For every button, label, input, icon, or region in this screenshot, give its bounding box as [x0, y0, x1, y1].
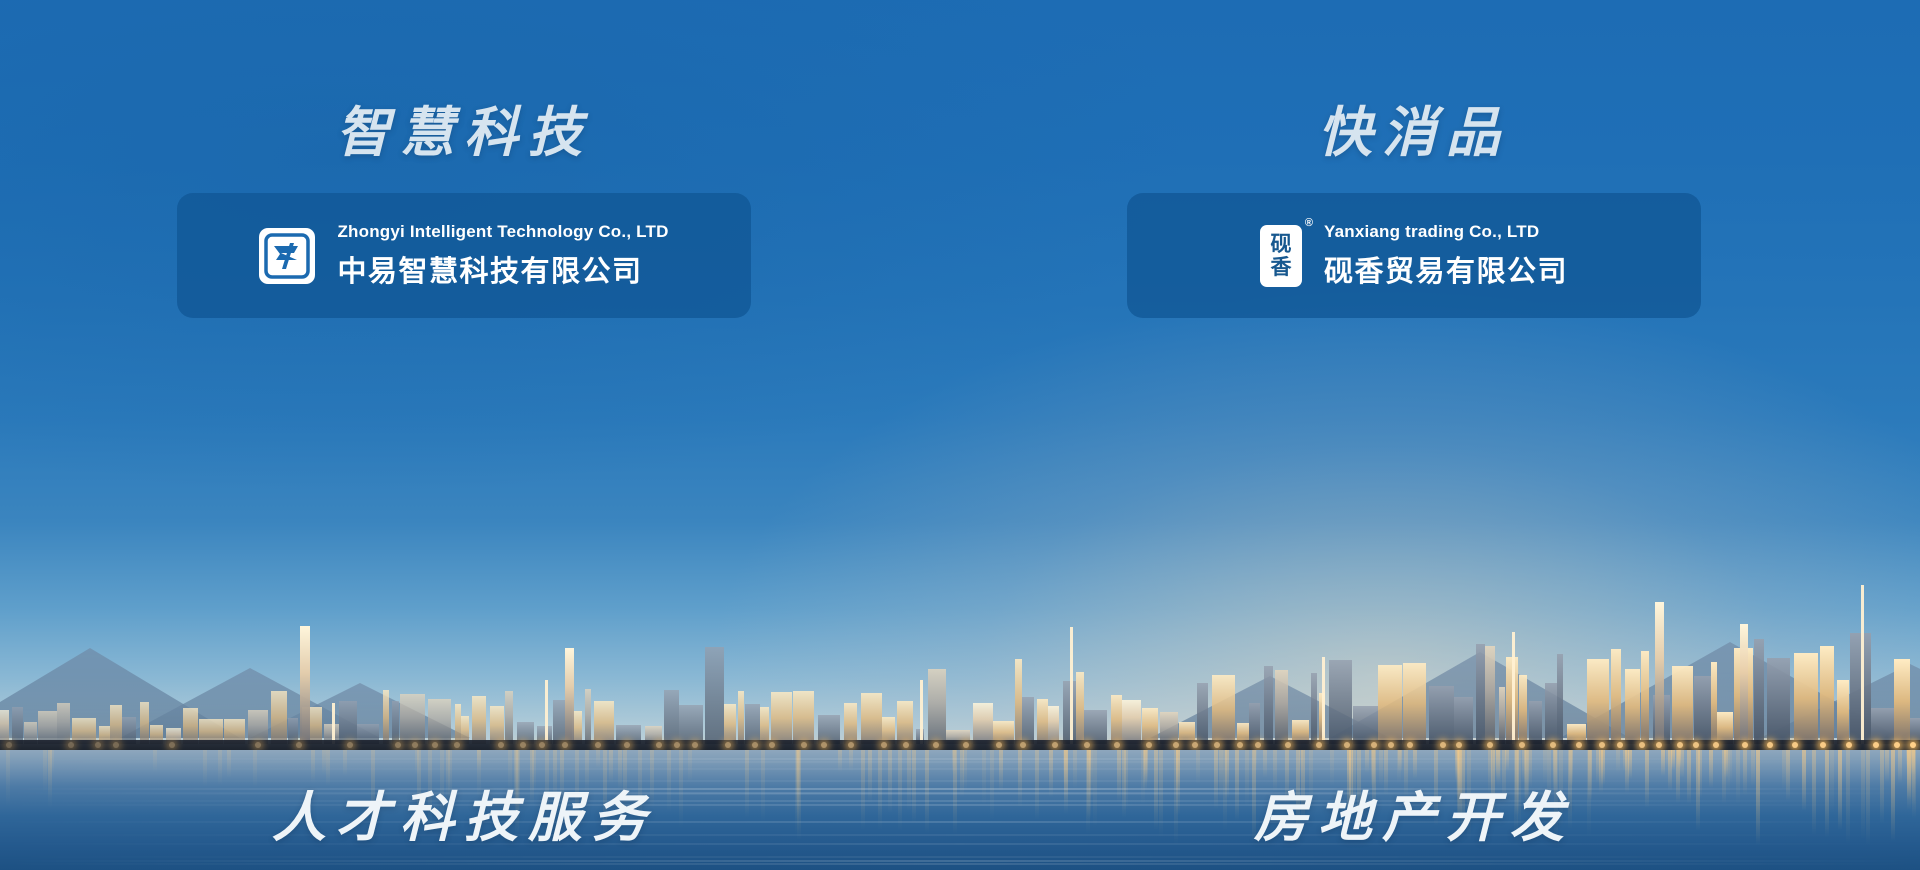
zhongyi-z-logo-icon [259, 228, 315, 284]
segments-grid: 智慧科技 Zhongyi Intelligent Technology Co. [0, 0, 1920, 870]
company-name-en: Zhongyi Intelligent Technology Co., LTD [337, 222, 668, 242]
logo-wrap [259, 228, 315, 284]
company-text: Zhongyi Intelligent Technology Co., LTD … [337, 222, 668, 290]
company-name-cn: 中易智慧科技有限公司 [337, 248, 668, 290]
segment-cell-real-estate: 房地产开发 Yanxiang real estate development C… [960, 467, 1920, 870]
segment-heading: 房地产开发 [1100, 789, 1728, 848]
segment-heading: 智慧科技 [150, 104, 778, 163]
logo-wrap: 砚 香 ® [1260, 225, 1302, 287]
segment-cell-talent-tech-services: 人才科技服务 NY [0, 467, 960, 870]
company-card-zhongyi[interactable]: Zhongyi Intelligent Technology Co., LTD … [177, 193, 751, 318]
company-name-cn: 砚香贸易有限公司 [1324, 248, 1568, 290]
registered-mark-icon: ® [1305, 217, 1313, 229]
company-text: Yanxiang trading Co., LTD 砚香贸易有限公司 [1324, 222, 1568, 290]
banner-scene: 智慧科技 Zhongyi Intelligent Technology Co. [0, 0, 1920, 870]
seal-char-bottom: 香 [1270, 257, 1291, 278]
seal-char-top: 砚 [1270, 234, 1291, 255]
yanxiang-seal-logo-icon: 砚 香 [1260, 225, 1302, 287]
company-card-yanxiang-trading[interactable]: 砚 香 ® Yanxiang trading Co., LTD 砚香贸易有限公司 [1127, 193, 1701, 318]
segment-cell-smart-technology: 智慧科技 Zhongyi Intelligent Technology Co. [0, 64, 960, 467]
segment-heading: 快消品 [1100, 104, 1728, 163]
segment-cell-fmcg: 快消品 砚 香 ® Yanxiang trading Co., LTD 砚香贸易… [960, 64, 1920, 467]
segment-heading: 人才科技服务 [150, 789, 778, 848]
company-name-en: Yanxiang trading Co., LTD [1324, 222, 1568, 242]
